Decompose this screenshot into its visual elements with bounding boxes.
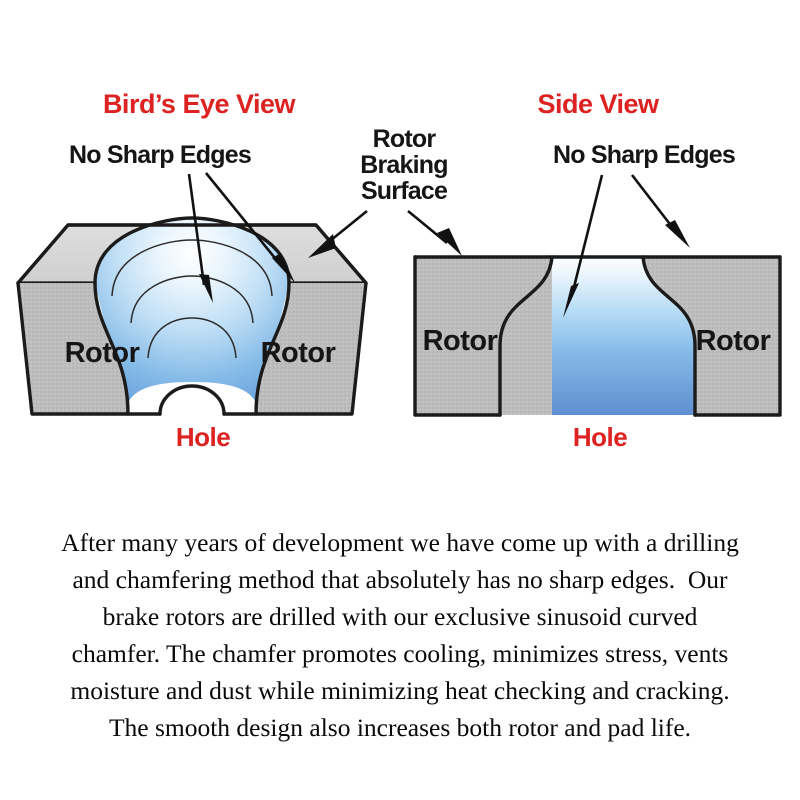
- right-no-sharp-edges-arrow-right: [632, 175, 690, 248]
- description-paragraph: After many years of development we have …: [0, 524, 800, 746]
- caption-line-2: and chamfering method that absolutely ha…: [0, 561, 800, 598]
- side-view-panel: Side View No Sharp Edges Rotor Rotor: [408, 89, 780, 452]
- braking-surface-label-line3: Surface: [361, 177, 448, 205]
- left-rotor-label-left: Rotor: [65, 337, 140, 369]
- caption-line-3: brake rotors are drilled with our exclus…: [0, 598, 800, 635]
- hole-exit-notch: [160, 386, 224, 414]
- left-rotor-label-right: Rotor: [261, 337, 336, 369]
- right-no-sharp-edges-label: No Sharp Edges: [553, 141, 735, 169]
- braking-surface-label-line1: Rotor: [373, 125, 437, 153]
- caption-line-6: The smooth design also increases both ro…: [0, 709, 800, 746]
- left-hole-label: Hole: [176, 422, 230, 452]
- braking-surface-arrow-right: [408, 211, 462, 256]
- caption-line-5: moisture and dust while minimizing heat …: [0, 672, 800, 709]
- side-view-title: Side View: [537, 89, 660, 119]
- side-rotor-label-left: Rotor: [423, 325, 498, 357]
- side-rotor-label-right: Rotor: [696, 325, 771, 357]
- caption-line-1: After many years of development we have …: [0, 524, 800, 561]
- birds-eye-view-title: Bird’s Eye View: [103, 89, 297, 119]
- braking-surface-label-line2: Braking: [360, 151, 447, 179]
- left-no-sharp-edges-label: No Sharp Edges: [69, 141, 251, 169]
- birds-eye-view-panel: Bird’s Eye View No Sharp Edges Rotor Bra…: [18, 89, 448, 452]
- side-hole-label: Hole: [573, 422, 627, 452]
- caption-line-4: chamfer. The chamfer promotes cooling, m…: [0, 635, 800, 672]
